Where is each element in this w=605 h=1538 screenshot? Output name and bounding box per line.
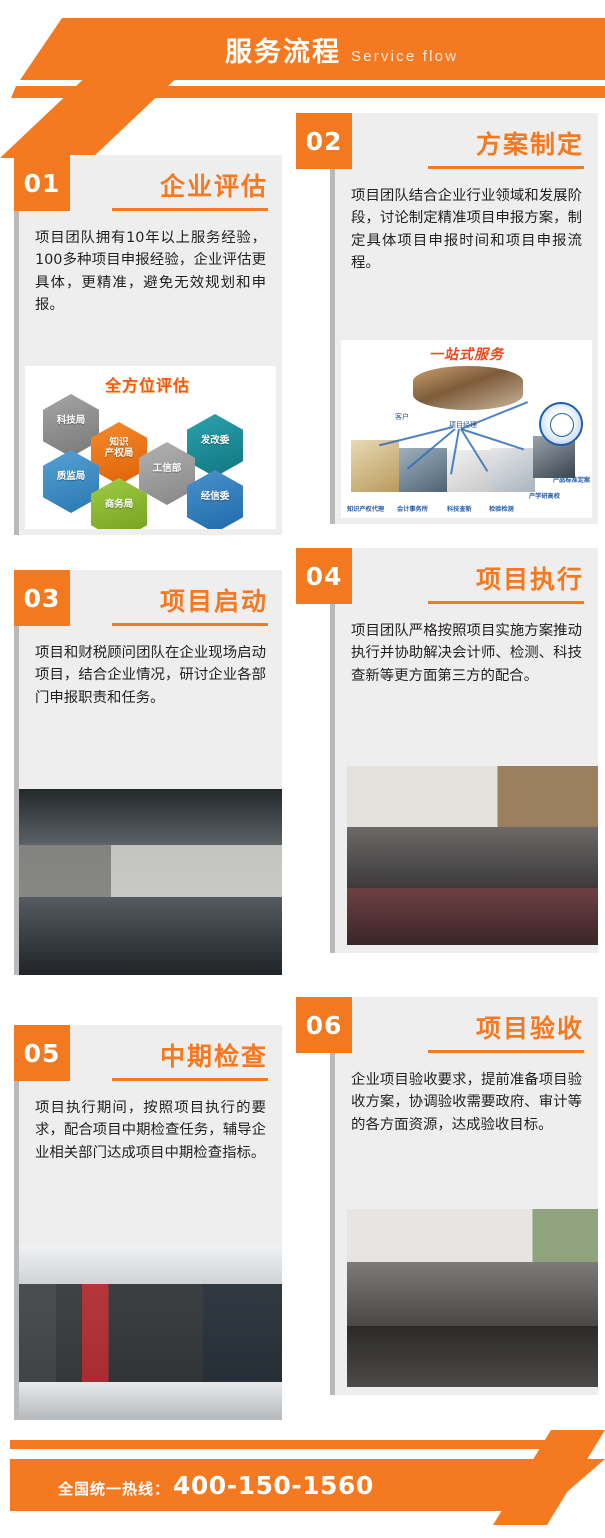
one-stop-title: 一站式服务 [429, 344, 504, 364]
one-stop-leaf-label-1: 会计事务所 [397, 504, 428, 513]
hotline-label: 全国统一热线： [58, 1478, 170, 1499]
step-body-01: 项目团队拥有10年以上服务经验，100多种项目申报经验，企业评估更具体，更精准，… [19, 211, 282, 330]
step-card-01[interactable]: 企业评估 项目团队拥有10年以上服务经验，100多种项目申报经验，企业评估更具体… [14, 155, 282, 535]
step-body-04: 项目团队严格按照项目实施方案推动执行并协助解决会计师、检测、科技查新等更方面第三… [335, 604, 598, 701]
service-flow-infographic: 服务流程 Service flow 企业评估 项目团队拥有10年以上服务经验，1… [0, 0, 605, 1538]
one-stop-leaf-label-3: 检验检测 [489, 504, 514, 513]
photo-counter-band [19, 1382, 282, 1421]
one-stop-leaf-label-5: 产品标准定案 [553, 475, 590, 484]
photo-table-band [347, 888, 598, 945]
hex-label-5: 商务局 [91, 500, 147, 511]
page-title-en: Service flow [351, 48, 458, 65]
photo-people-band [19, 1284, 282, 1382]
step-badge-01: 01 [14, 155, 70, 211]
photo-people-band [347, 827, 598, 888]
photo-conference-room [19, 789, 282, 975]
step-badge-05: 05 [14, 1025, 70, 1081]
hex-label-3: 质监局 [43, 472, 99, 483]
photo-wall-band [347, 1209, 598, 1262]
page-title-cn: 服务流程 [225, 30, 341, 69]
step-body-02: 项目团队结合企业行业领域和发展阶段，讨论制定精准项目申报方案，制定具体项目申报时… [335, 169, 598, 288]
step-badge-04: 04 [296, 548, 352, 604]
photo-wall-band [19, 845, 282, 897]
hex-diagram-title: 全方位评估 [105, 372, 190, 396]
footer-right-chevron-decoration [455, 1430, 605, 1525]
assessment-hex-diagram: 全方位评估 科技局 知识产权局 发改委 质监局 工信部 商务局 经信委 [25, 366, 276, 529]
photo-people-band [347, 1262, 598, 1326]
one-stop-leaf-label-0: 知识产权代理 [347, 504, 384, 513]
step-title-06: 项目验收 [335, 997, 598, 1045]
photo-showroom-visit [19, 1245, 282, 1420]
hex-label-0: 科技局 [43, 416, 99, 427]
hex-label-6: 经信委 [187, 492, 243, 503]
photo-ceiling-band [19, 1245, 282, 1284]
photo-table-band [19, 897, 282, 975]
one-stop-arrow-5 [379, 426, 453, 446]
header-accent-stripe [0, 86, 605, 98]
one-stop-center-photo [413, 366, 523, 410]
step-badge-06: 06 [296, 997, 352, 1053]
step-card-03[interactable]: 项目启动 项目和财税顾问团队在企业现场启动项目，结合企业情况，研讨企业各部门申报… [14, 570, 282, 975]
step-card-04[interactable]: 项目执行 项目团队严格按照项目实施方案推动执行并协助解决会计师、检测、科技查新等… [330, 548, 598, 953]
step-card-05[interactable]: 中期检查 项目执行期间，按照项目执行的要求，配合项目中期检查任务，辅导企业相关部… [14, 1025, 282, 1420]
step-body-05: 项目执行期间，按照项目执行的要求，配合项目中期检查任务，辅导企业相关部门达成项目… [19, 1081, 282, 1178]
one-stop-leaf-label-2: 科技查新 [447, 504, 472, 513]
photo-wall-band [347, 766, 598, 827]
step-body-03: 项目和财税顾问团队在企业现场启动项目，结合企业情况，研讨企业各部门申报职责和任务… [19, 626, 282, 723]
one-stop-tile-0 [351, 440, 399, 492]
one-stop-leaf-label-4: 产学研高校 [529, 491, 560, 500]
step-body-06: 企业项目验收要求，提前准备项目验收方案，协调验收需要政府、审计等的各方面资源，达… [335, 1053, 598, 1150]
photo-boardroom-review [347, 1209, 598, 1387]
page-title: 服务流程 Service flow [225, 30, 458, 69]
step-badge-02: 02 [296, 113, 352, 169]
one-stop-iso-seal [539, 402, 583, 446]
step-title-02: 方案制定 [335, 113, 598, 161]
hotline: 全国统一热线： 400-150-1560 [58, 1471, 374, 1500]
photo-table-band [347, 1326, 598, 1387]
step-card-02[interactable]: 方案制定 项目团队结合企业行业领域和发展阶段，讨论制定精准项目申报方案，制定具体… [330, 113, 598, 524]
one-stop-tile-3 [491, 448, 535, 492]
hex-label-4: 工信部 [139, 464, 195, 475]
photo-meeting-laptops [347, 766, 598, 945]
one-stop-node-manager: 项目经理 [449, 420, 477, 430]
hex-label-2: 发改委 [187, 436, 243, 447]
hotline-number[interactable]: 400-150-1560 [173, 1471, 374, 1500]
one-stop-service-diagram: 一站式服务 客户 项目经理 知识产权代理 会计事务所 科技查新 检验检测 产学研 [341, 340, 592, 518]
step-card-06[interactable]: 项目验收 企业项目验收要求，提前准备项目验收方案，协调验收需要政府、审计等的各方… [330, 997, 598, 1395]
step-title-04: 项目执行 [335, 548, 598, 596]
hex-label-1: 知识产权局 [91, 438, 147, 460]
step-badge-03: 03 [14, 570, 70, 626]
photo-ceiling-band [19, 789, 282, 845]
one-stop-node-client: 客户 [395, 412, 409, 422]
